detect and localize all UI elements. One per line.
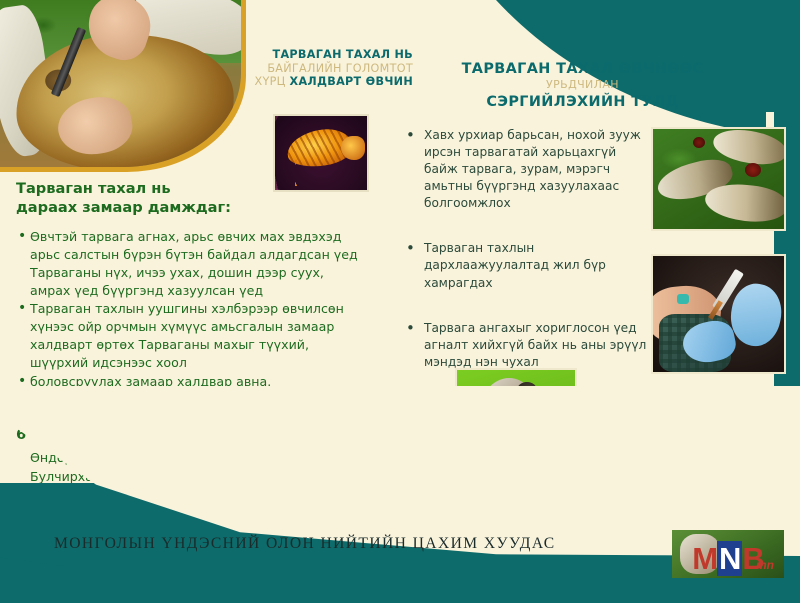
logo-letter-m: M	[692, 541, 717, 576]
list-item: Тарваган тахлын дархлаажуулалтад жил бүр…	[404, 240, 650, 291]
banner-text: МОНГОЛЫН ҮНДЭСНИЙ ОЛОН НИЙТИЙН ЦАХИМ ХУУ…	[54, 535, 674, 553]
right-content-column: Хавх урхиар барьсан, нохой зууж ирсэн та…	[404, 127, 650, 399]
title-left-line3: ХҮРЦ ХАЛДВАРТ ӨВЧИН	[228, 75, 413, 89]
list-item: Тарвага ангахыг хориглосон үед агналт хи…	[404, 320, 650, 371]
transmission-bullet-list: Өвчтэй тарвага агнах, арьс өвчих мах эвд…	[16, 228, 364, 391]
poster-root: ТАРВАГАН ТАХАЛ НЬ БАЙГАЛИЙН ГОЛОМТОТ ХҮР…	[0, 0, 800, 603]
vaccination-ring	[677, 294, 689, 304]
prevention-bullet-list: Хавх урхиар барьсан, нохой зууж ирсэн та…	[404, 127, 650, 371]
mnb-logo[interactable]: MNB .mn	[672, 530, 784, 586]
flea-head	[341, 136, 365, 160]
title-left-line3-gold: ХҮРЦ	[255, 75, 290, 88]
logo-letter-n: N	[717, 541, 742, 576]
title-right-line3: СЭРГИЙЛЭХИЙН ТУЛД	[440, 93, 725, 111]
title-right-line1: ТАРВАГАН ТАХАЛ ӨВЧНӨӨС	[440, 60, 725, 78]
list-item: Тарваган тахлын уушгины хэлбэрээр өвчилс…	[16, 300, 364, 372]
logo-domain-suffix: .mn	[753, 558, 774, 572]
transmission-heading: Тарваган тахал нь дараах замаар дамждаг:	[16, 180, 364, 218]
title-right-block: ТАРВАГАН ТАХАЛ ӨВЧНӨӨС УРЬДЧИЛАН СЭРГИЙЛ…	[440, 60, 725, 111]
dogs-blood-mark-1	[745, 163, 761, 177]
dogs-with-marmot-photo	[651, 127, 786, 231]
title-left-line3-teal: ХАЛДВАРТ ӨВЧИН	[290, 75, 413, 88]
list-item: Өвчтэй тарвага агнах, арьс өвчих мах эвд…	[16, 228, 364, 300]
transmission-heading-line2: дараах замаар дамждаг:	[16, 199, 364, 218]
dogs-blood-mark-2	[693, 137, 705, 148]
title-left-line1: ТАРВАГАН ТАХАЛ НЬ	[228, 48, 413, 62]
list-item: Хавх урхиар барьсан, нохой зууж ирсэн та…	[404, 127, 650, 212]
marmot-skinning-photo	[0, 0, 241, 167]
vaccination-injection-photo	[651, 254, 786, 374]
title-right-line2: УРЬДЧИЛАН	[440, 78, 725, 92]
title-left-line2: БАЙГАЛИЙН ГОЛОМТОТ	[228, 62, 413, 76]
transmission-heading-line1: Тарваган тахал нь	[16, 180, 364, 199]
title-left-block: ТАРВАГАН ТАХАЛ НЬ БАЙГАЛИЙН ГОЛОМТОТ ХҮР…	[228, 48, 413, 89]
hero-photo-frame	[0, 0, 246, 172]
